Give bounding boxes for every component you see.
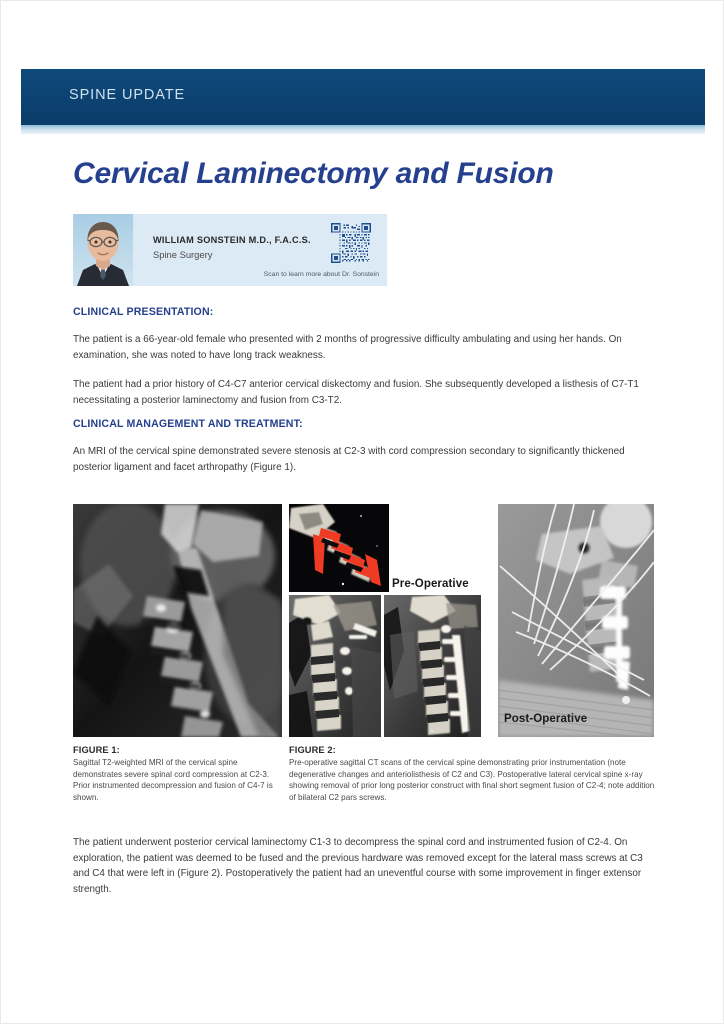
figure-1-caption-text: Sagittal T2-weighted MRI of the cervical… [73,757,273,803]
paragraph-closing: The patient underwent posterior cervical… [73,835,653,897]
figure-2-sagittal-ct-panel-b-image [384,595,481,737]
figure-2-caption-text: Pre-operative sagittal CT scans of the c… [289,757,661,803]
lateral-xray-graphic [498,504,654,737]
figure-2-label: FIGURE 2: [289,745,661,755]
figure-1-mri-image [73,504,282,737]
figure-2-sagittal-ct-panel-a-image [289,595,381,737]
figure-1-caption: FIGURE 1: Sagittal T2-weighted MRI of th… [73,745,273,803]
image-label-preoperative: Pre-Operative [392,578,469,590]
figure-2-postop-lateral-xray-image [498,504,654,737]
ct-3d-recon-graphic [289,504,389,592]
document-page: SPINE UPDATE Cervical Laminectomy and Fu… [0,0,724,1024]
sagittal-ct-b-graphic [384,595,481,737]
image-label-postoperative: Post-Operative [504,713,587,725]
figure-2-3d-ct-reconstruction-image [289,504,389,592]
figure-1-label: FIGURE 1: [73,745,273,755]
figure-2-caption: FIGURE 2: Pre-operative sagittal CT scan… [289,745,661,803]
sagittal-ct-a-graphic [289,595,381,737]
sagittal-mri-graphic [73,504,282,737]
